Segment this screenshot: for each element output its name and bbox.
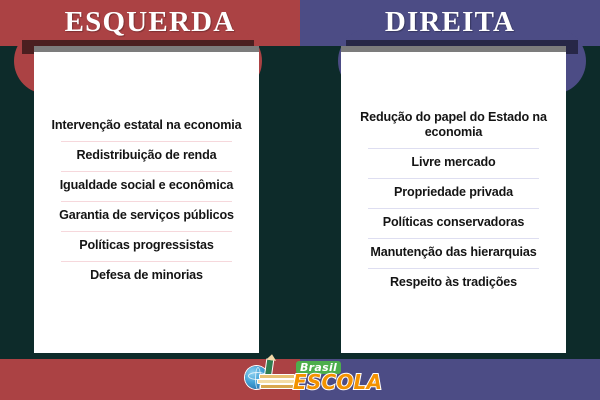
logo-word-escola: ESCOLA — [293, 372, 382, 392]
list-item: Respeito às tradições — [349, 268, 558, 298]
infographic-canvas: ESQUERDA DIREITA Intervenção estatal na … — [0, 0, 600, 400]
right-column-card: Redução do papel do Estado na economia L… — [341, 46, 566, 353]
right-column-title: DIREITA — [300, 3, 600, 41]
list-item: Propriedade privada — [349, 178, 558, 208]
brasil-escola-logo: Brasil ESCOLA — [243, 359, 357, 395]
list-item: Intervenção estatal na economia — [42, 111, 251, 141]
left-column-title: ESQUERDA — [0, 3, 300, 41]
books-icon — [257, 374, 297, 392]
right-items-list: Redução do papel do Estado na economia L… — [341, 52, 566, 353]
list-item: Manutenção das hierarquias — [349, 238, 558, 268]
left-column-card: Intervenção estatal na economia Redistri… — [34, 46, 259, 353]
left-items-list: Intervenção estatal na economia Redistri… — [34, 52, 259, 353]
list-item: Igualdade social e econômica — [42, 171, 251, 201]
logo-badge: Brasil ESCOLA — [243, 359, 357, 395]
list-item: Defesa de minorias — [42, 261, 251, 291]
list-item: Redistribuição de renda — [42, 141, 251, 171]
list-item: Garantia de serviços públicos — [42, 201, 251, 231]
list-item: Livre mercado — [349, 148, 558, 178]
list-item: Políticas progressistas — [42, 231, 251, 261]
list-item: Políticas conservadoras — [349, 208, 558, 238]
list-item: Redução do papel do Estado na economia — [349, 103, 558, 148]
